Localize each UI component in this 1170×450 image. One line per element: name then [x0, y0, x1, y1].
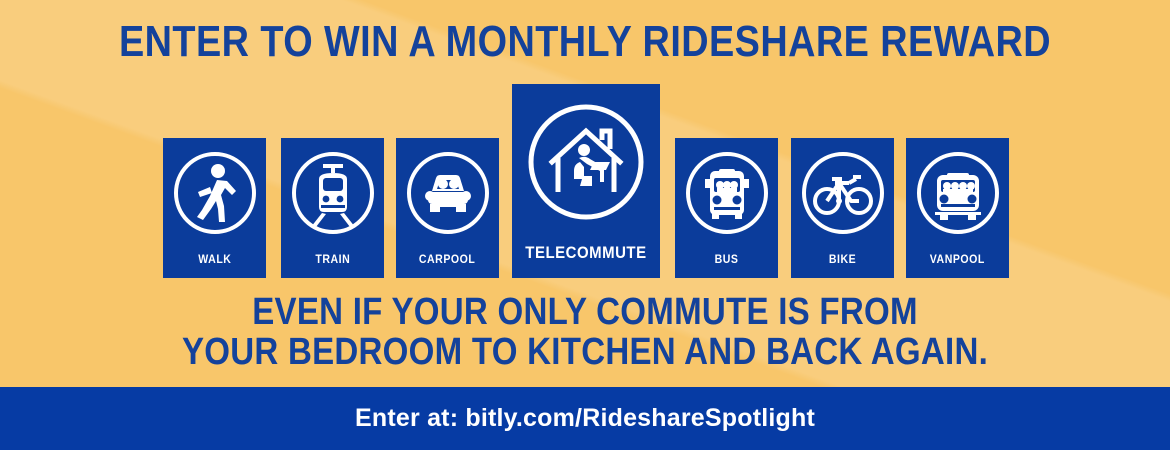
mode-label: VANPOOL	[930, 252, 985, 266]
subheadline-line-2: YOUR BEDROOM TO KITCHEN AND BACK AGAIN.	[76, 332, 1094, 372]
telecommute-icon	[524, 100, 648, 229]
walk-icon	[171, 149, 259, 242]
mode-tile-walk[interactable]: WALK	[163, 138, 266, 278]
page-title: ENTER TO WIN A MONTHLY RIDESHARE REWARD	[82, 18, 1088, 66]
mode-label: WALK	[198, 252, 231, 266]
mode-label: CARPOOL	[419, 252, 475, 266]
mode-tile-bike[interactable]: BIKE	[791, 138, 894, 278]
mode-label: TRAIN	[315, 252, 350, 266]
vanpool-icon	[914, 149, 1002, 242]
mode-tile-bus[interactable]: BUS	[675, 138, 778, 278]
mode-tile-row: WALK TRAIN	[163, 84, 1007, 278]
mode-tile-carpool[interactable]: CARPOOL	[396, 138, 499, 278]
mode-tile-vanpool[interactable]: VANPOOL	[906, 138, 1009, 278]
footer-bar: Enter at: bitly.com/RideshareSpotlight	[0, 387, 1170, 450]
subheadline-line-1: EVEN IF YOUR ONLY COMMUTE IS FROM	[252, 291, 918, 333]
subheadline: EVEN IF YOUR ONLY COMMUTE IS FROM YOUR B…	[76, 292, 1094, 372]
mode-tile-train[interactable]: TRAIN	[281, 138, 384, 278]
mode-label: TELECOMMUTE	[525, 243, 646, 263]
rideshare-promo-banner: ENTER TO WIN A MONTHLY RIDESHARE REWARD …	[0, 0, 1170, 450]
bike-icon	[799, 149, 887, 242]
mode-tile-telecommute[interactable]: TELECOMMUTE	[512, 84, 660, 278]
enter-link-text[interactable]: Enter at: bitly.com/RideshareSpotlight	[355, 404, 815, 433]
bus-icon	[683, 149, 771, 242]
mode-label: BUS	[715, 252, 739, 266]
mode-label: BIKE	[829, 252, 856, 266]
train-icon	[289, 149, 377, 242]
carpool-icon	[404, 149, 492, 242]
